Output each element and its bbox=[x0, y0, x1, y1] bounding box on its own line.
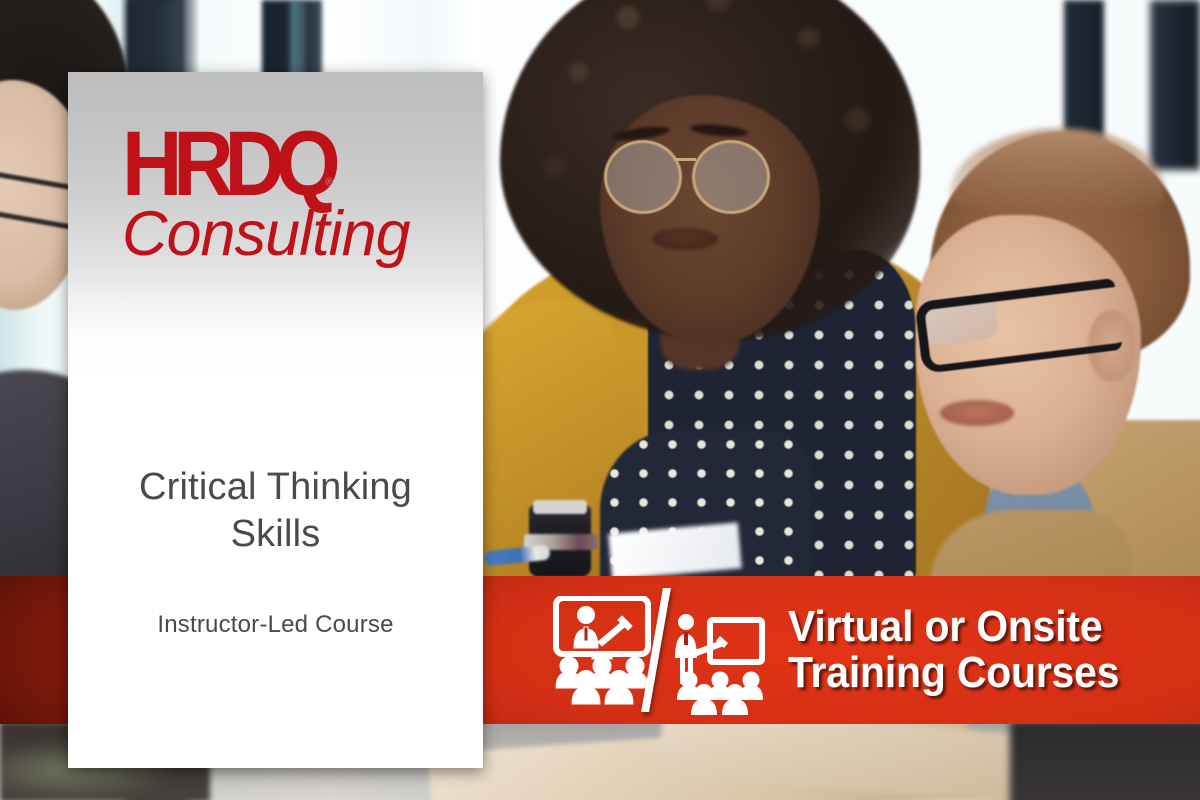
course-format-label: Instructor-Led Course bbox=[106, 611, 446, 639]
course-title-line1: Critical Thinking bbox=[111, 464, 441, 510]
brand-wordmark-text: HRDQ bbox=[122, 113, 332, 215]
woman-glasses-lens-left bbox=[604, 140, 682, 214]
virtual-classroom-icon bbox=[552, 596, 656, 706]
foreground-shadow-right bbox=[1010, 720, 1200, 800]
course-card: HRDQ ® Consulting Critical Thinking Skil… bbox=[68, 72, 483, 768]
window-frame-far-right bbox=[1150, 0, 1200, 170]
woman-mouth bbox=[652, 228, 718, 250]
banner-heading: Virtual or Onsite Training Courses bbox=[788, 604, 1119, 696]
course-title: Critical Thinking Skills bbox=[111, 464, 441, 557]
brand-logo: HRDQ ® Consulting bbox=[68, 122, 483, 266]
cup-lid bbox=[533, 500, 587, 514]
woman-glasses-lens-right bbox=[692, 140, 770, 214]
course-promo-image: Virtual or Onsite Training Courses HRDQ … bbox=[0, 0, 1200, 800]
woman-glasses-bridge bbox=[674, 158, 696, 161]
banner-heading-line2: Training Courses bbox=[788, 650, 1119, 696]
banner-icon-group bbox=[548, 584, 766, 716]
registered-trademark-icon: ® bbox=[325, 178, 333, 188]
course-title-line2: Skills bbox=[111, 511, 441, 557]
man-mouth bbox=[940, 400, 1014, 426]
banner-heading-line1: Virtual or Onsite bbox=[788, 604, 1119, 650]
onsite-classroom-icon bbox=[666, 610, 766, 716]
brand-wordmark: HRDQ ® bbox=[122, 122, 332, 206]
